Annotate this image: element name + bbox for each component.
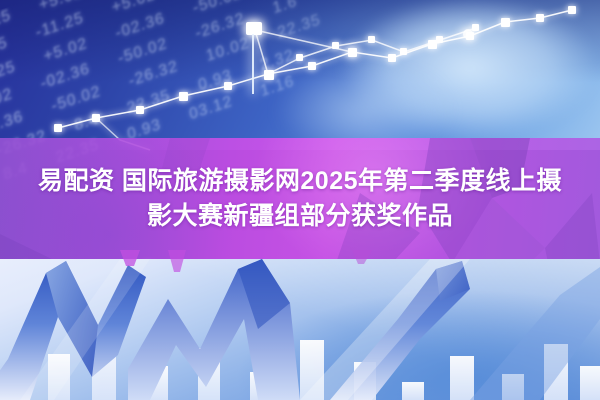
title-line-2: 影大赛新疆组部分获奖作品 — [147, 202, 453, 231]
bottom-graphic-area — [0, 259, 600, 400]
banner-title: 易配资 国际旅游摄影网2025年第二季度线上摄 影大赛新疆组部分获奖作品 — [0, 138, 600, 259]
band-drip-accent — [0, 250, 600, 278]
bright-beacon-node — [246, 22, 262, 94]
zigzag-ribbon-graphic — [0, 259, 600, 400]
banner-image: -0.95 +1.25 -11.25 +5.02 -02.36 -50.02 2… — [0, 0, 600, 400]
title-line-1: 易配资 国际旅游摄影网2025年第二季度线上摄 — [38, 167, 562, 196]
